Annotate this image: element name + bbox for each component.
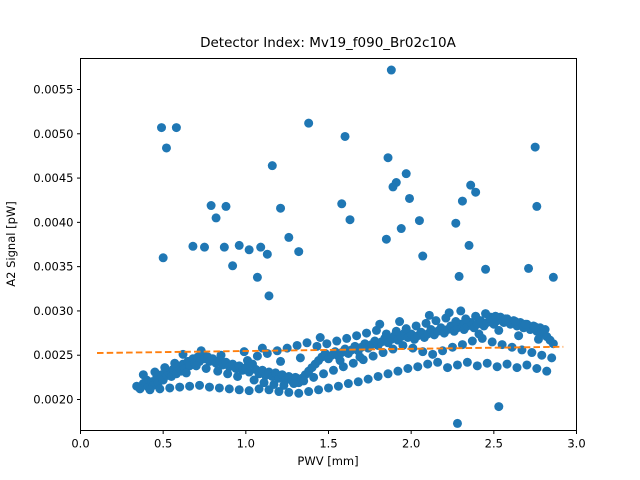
scatter-point: [532, 364, 541, 373]
scatter-point: [296, 353, 305, 362]
scatter-point: [471, 312, 480, 321]
scatter-point: [352, 331, 361, 340]
scatter-point: [481, 309, 490, 318]
y-tick-label: 0.0035: [33, 260, 73, 274]
y-tick-label: 0.0040: [33, 215, 73, 229]
y-tick-label: 0.0025: [33, 348, 73, 362]
scatter-point: [494, 326, 503, 335]
scatter-point: [253, 273, 262, 282]
scatter-point: [253, 352, 262, 361]
scatter-point: [175, 383, 184, 392]
scatter-point: [213, 367, 222, 376]
scatter-plot-canvas: Detector Index: Mv19_f090_Br02c10A 0.00.…: [0, 0, 640, 480]
scatter-point: [139, 370, 148, 379]
scatter-point: [532, 202, 541, 211]
scatter-point: [289, 379, 298, 388]
scatter-point: [243, 356, 252, 365]
scatter-point: [202, 364, 211, 373]
scatter-point: [220, 243, 229, 252]
scatter-point: [393, 367, 402, 376]
scatter-point: [458, 197, 467, 206]
scatter-point: [425, 311, 434, 320]
scatter-point: [263, 250, 272, 259]
scatter-point: [304, 119, 313, 128]
scatter-point: [316, 333, 325, 342]
scatter-point: [455, 272, 464, 281]
scatter-point: [369, 352, 378, 361]
x-tick-label: 2.0: [402, 437, 420, 451]
scatter-point: [397, 224, 406, 233]
scatter-point: [364, 375, 373, 384]
scatter-point: [276, 204, 285, 213]
scatter-point: [483, 359, 492, 368]
scatter-point: [245, 386, 254, 395]
scatter-point: [212, 213, 221, 222]
x-tick-label: 0.0: [71, 437, 89, 451]
scatter-point: [228, 261, 237, 270]
x-tick-label: 1.5: [319, 437, 337, 451]
x-tick-label: 1.0: [237, 437, 255, 451]
scatter-point: [374, 372, 383, 381]
scatter-point: [279, 381, 288, 390]
scatter-point: [491, 312, 500, 321]
scatter-point: [334, 382, 343, 391]
scatter-point: [200, 243, 209, 252]
scatter-point: [384, 153, 393, 162]
scatter-point: [463, 358, 472, 367]
scatter-point: [276, 357, 285, 366]
scatter-point: [392, 327, 401, 336]
scatter-point: [413, 362, 422, 371]
scatter-point: [345, 215, 354, 224]
scatter-point: [145, 385, 154, 394]
scatter-point: [511, 317, 520, 326]
scatter-point: [451, 317, 460, 326]
scatter-point: [223, 369, 232, 378]
scatter-point: [473, 361, 482, 370]
scatter-point: [402, 169, 411, 178]
scatter-point: [136, 384, 145, 393]
x-tick-label: 2.5: [485, 437, 503, 451]
scatter-point: [294, 389, 303, 398]
scatter-point: [465, 241, 474, 250]
scatter-point: [494, 402, 503, 411]
scatter-point: [522, 360, 531, 369]
scatter-point: [215, 383, 224, 392]
scatter-point: [541, 325, 550, 334]
scatter-point: [235, 241, 244, 250]
y-axis-label: A2 Signal [pW]: [4, 201, 18, 286]
scatter-point: [524, 264, 533, 273]
scatter-point: [314, 385, 323, 394]
scatter-point: [402, 324, 411, 333]
y-tick-label: 0.0045: [33, 171, 73, 185]
scatter-point: [344, 379, 353, 388]
scatter-point: [493, 362, 502, 371]
scatter-point: [512, 363, 521, 372]
scatter-point: [341, 132, 350, 141]
scatter-point: [185, 382, 194, 391]
chart-title: Detector Index: Mv19_f090_Br02c10A: [200, 35, 457, 51]
scatter-point: [418, 252, 427, 261]
scatter-point: [304, 387, 313, 396]
scatter-point: [388, 182, 397, 191]
scatter-point: [269, 380, 278, 389]
scatter-point: [375, 320, 384, 329]
scatter-point: [428, 350, 437, 359]
scatter-point: [403, 364, 412, 373]
scatter-point: [461, 314, 470, 323]
y-tick-label: 0.0020: [33, 393, 73, 407]
scatter-point: [322, 339, 331, 348]
scatter-point: [256, 243, 265, 252]
scatter-point: [336, 356, 345, 365]
scatter-point: [405, 194, 414, 203]
scatter-point: [362, 329, 371, 338]
scatter-point: [503, 360, 512, 369]
scatter-point: [221, 202, 230, 211]
scatter-point: [387, 66, 396, 75]
scatter-point: [527, 348, 536, 357]
scatter-point: [207, 201, 216, 210]
scatter-point: [415, 216, 424, 225]
scatter-point: [337, 199, 346, 208]
y-tick-label: 0.0055: [33, 83, 73, 97]
scatter-point: [157, 123, 166, 132]
scatter-point: [250, 376, 259, 385]
y-tick-label: 0.0030: [33, 304, 73, 318]
scatter-point: [384, 369, 393, 378]
scatter-point: [474, 329, 483, 338]
scatter-point: [260, 378, 269, 387]
scatter-point: [205, 383, 214, 392]
scatter-point: [342, 334, 351, 343]
x-axis-label: PWV [mm]: [297, 454, 358, 468]
scatter-point: [233, 372, 242, 381]
scatter-point: [412, 321, 421, 330]
scatter-point: [547, 353, 556, 362]
scatter-point: [521, 320, 530, 329]
scatter-point: [268, 161, 277, 170]
scatter-point: [150, 368, 159, 377]
scatter-point: [245, 245, 254, 254]
scatter-point: [235, 385, 244, 394]
scatter-point: [160, 363, 169, 372]
scatter-point: [309, 373, 318, 382]
scatter-point: [170, 359, 179, 368]
scatter-point: [501, 314, 510, 323]
scatter-point: [514, 331, 523, 340]
scatter-point: [319, 369, 328, 378]
scatter-point: [303, 338, 312, 347]
scatter-point: [182, 368, 191, 377]
x-tick-label: 0.5: [154, 437, 172, 451]
scatter-point: [172, 123, 181, 132]
scatter-point: [225, 384, 234, 393]
scatter-point: [324, 383, 333, 392]
scatter-point: [299, 376, 308, 385]
scatter-point: [188, 242, 197, 251]
scatter-point: [471, 188, 480, 197]
scatter-point: [165, 383, 174, 392]
scatter-point: [433, 358, 442, 367]
scatter-point: [162, 143, 171, 152]
scatter-point: [448, 343, 457, 352]
figure-background: [0, 0, 640, 480]
scatter-point: [549, 273, 558, 282]
scatter-point: [293, 341, 302, 350]
scatter-point: [488, 337, 497, 346]
scatter-point: [395, 317, 404, 326]
scatter-point: [531, 143, 540, 152]
scatter-point: [468, 337, 477, 346]
scatter-point: [349, 359, 358, 368]
scatter-point: [423, 360, 432, 369]
scatter-point: [443, 363, 452, 372]
scatter-point: [192, 361, 201, 370]
scatter-point: [453, 419, 462, 428]
scatter-point: [382, 329, 391, 338]
matplotlib-figure: Detector Index: Mv19_f090_Br02c10A 0.00.…: [0, 0, 640, 480]
scatter-point: [354, 377, 363, 386]
scatter-point: [422, 319, 431, 328]
scatter-point: [453, 360, 462, 369]
scatter-point: [481, 265, 490, 274]
scatter-point: [155, 384, 164, 393]
scatter-point: [531, 322, 540, 331]
scatter-point: [534, 335, 543, 344]
scatter-point: [329, 366, 338, 375]
scatter-point: [382, 235, 391, 244]
scatter-point: [451, 219, 460, 228]
scatter-point: [284, 233, 293, 242]
x-tick-label: 3.0: [567, 437, 585, 451]
scatter-point: [445, 308, 454, 317]
scatter-point: [159, 253, 168, 262]
scatter-point: [294, 247, 303, 256]
y-tick-label: 0.0050: [33, 127, 73, 141]
scatter-point: [332, 337, 341, 346]
scatter-point: [456, 306, 465, 315]
scatter-point: [195, 381, 204, 390]
scatter-point: [537, 351, 546, 360]
scatter-point: [542, 367, 551, 376]
scatter-point: [264, 291, 273, 300]
scatter-point: [355, 352, 364, 361]
